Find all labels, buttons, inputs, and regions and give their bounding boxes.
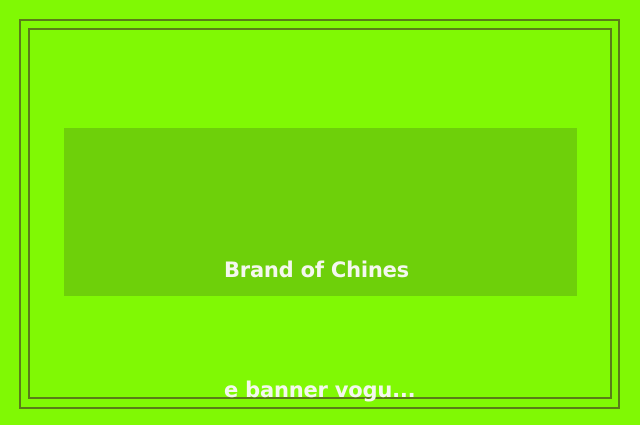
content-plate: Brand of Chines e banner vogu... (64, 128, 577, 296)
caption-line-2: e banner vogu... (224, 370, 564, 410)
banner-caption: Brand of Chines e banner vogu... (224, 170, 564, 425)
caption-line-1: Brand of Chines (224, 250, 564, 290)
banner-canvas: Brand of Chines e banner vogu... (0, 0, 640, 425)
